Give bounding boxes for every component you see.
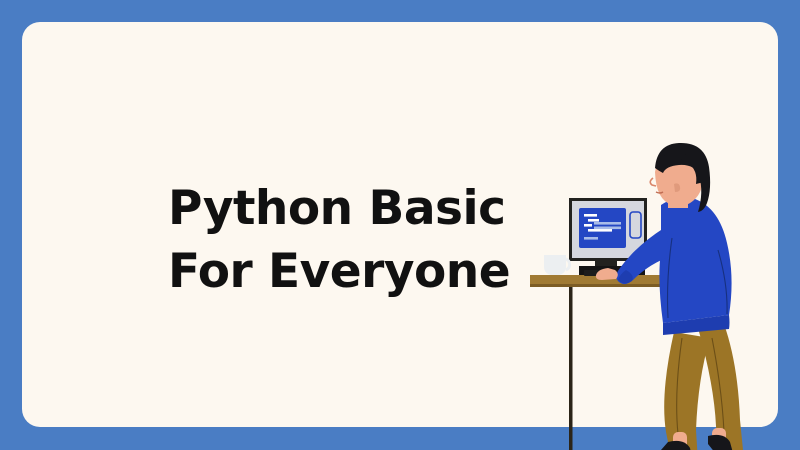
coffee-mug-icon: [544, 255, 570, 275]
title-line-2: For Everyone: [168, 240, 548, 303]
person-figure: [596, 143, 744, 450]
slide-canvas: Python Basic For Everyone: [0, 0, 800, 450]
standing-desk: [530, 275, 672, 450]
slide-cream-card: Python Basic For Everyone: [22, 22, 778, 427]
title-line-1: Python Basic: [168, 177, 548, 240]
illustration-woman-coding: [522, 142, 800, 450]
page-title: Python Basic For Everyone: [168, 177, 548, 303]
